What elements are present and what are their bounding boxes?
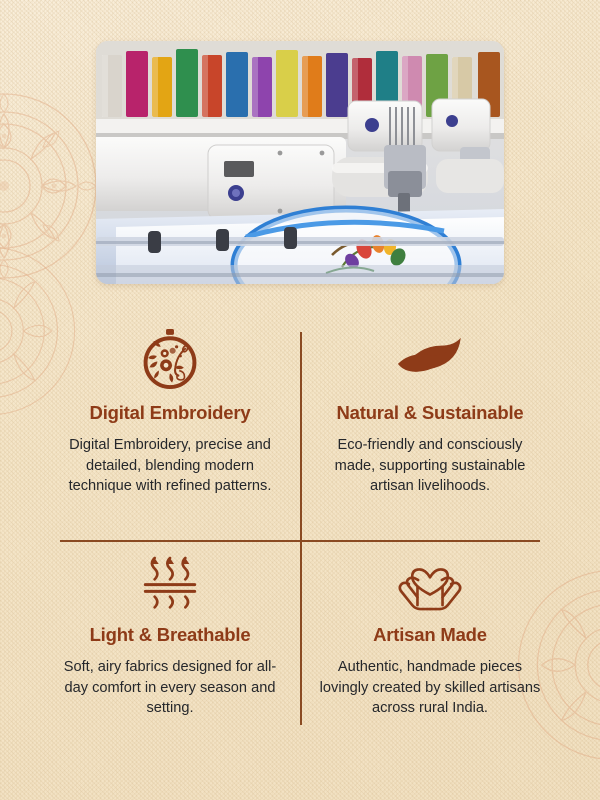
feature-grid: Digital Embroidery Digital Embroidery, p… <box>40 318 560 738</box>
feature-title: Natural & Sustainable <box>336 402 523 424</box>
feature-card-natural-sustainable: Natural & Sustainable Eco-friendly and c… <box>300 318 560 528</box>
feature-title: Light & Breathable <box>90 624 251 646</box>
feature-card-artisan-made: Artisan Made Authentic, handmade pieces … <box>300 528 560 738</box>
feature-description: Digital Embroidery, precise and detailed… <box>58 435 282 497</box>
feature-description: Authentic, handmade pieces lovingly crea… <box>318 657 542 719</box>
feature-title: Artisan Made <box>373 624 487 646</box>
embroidery-machine-photo <box>96 41 504 284</box>
feature-description: Soft, airy fabrics designed for all-day … <box>58 657 282 719</box>
leaf-icon <box>394 324 466 396</box>
breathable-airflow-icon <box>139 546 201 618</box>
feature-card-digital-embroidery: Digital Embroidery Digital Embroidery, p… <box>40 318 300 528</box>
feature-card-light-breathable: Light & Breathable Soft, airy fabrics de… <box>40 528 300 738</box>
embroidery-hoop-icon <box>137 324 203 396</box>
hands-heart-icon <box>397 546 463 618</box>
mandala-decoration-left-top <box>0 86 104 291</box>
feature-highlights-page: Digital Embroidery Digital Embroidery, p… <box>0 0 600 800</box>
feature-description: Eco-friendly and consciously made, suppo… <box>318 435 542 497</box>
feature-title: Digital Embroidery <box>90 402 251 424</box>
